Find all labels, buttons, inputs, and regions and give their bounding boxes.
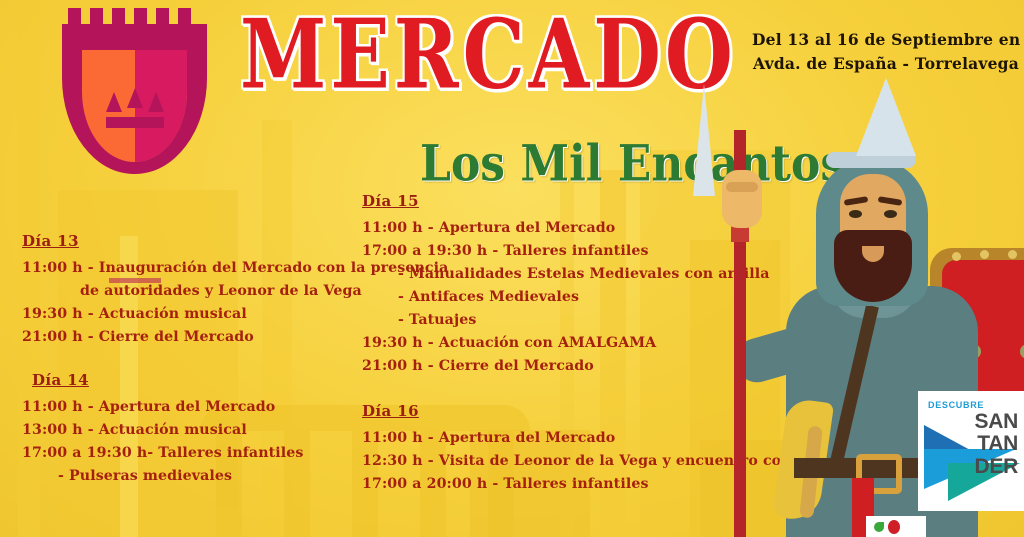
schedule-event: 11:00 h - Inauguración del Mercado con l… <box>22 257 362 280</box>
poster-title: MERCADO <box>240 8 710 103</box>
spear-blade-icon <box>693 84 715 196</box>
schedule-event: 11:00 h - Apertura del Mercado <box>22 396 362 419</box>
logo-line-san: SAN <box>975 411 1018 433</box>
day-block: Día 13 11:00 h - Inauguración del Mercad… <box>22 232 362 349</box>
day-heading: Día 13 <box>22 232 362 250</box>
schedule-event: - Antifaces Medievales <box>362 286 832 309</box>
logo-line-der: DER <box>975 456 1018 478</box>
schedule-event: 21:00 h - Cierre del Mercado <box>22 326 362 349</box>
schedule-event: 17:00 a 19:30 h- Talleres infantiles <box>22 442 362 465</box>
schedule-event: de autoridades y Leonor de la Vega <box>22 280 362 303</box>
schedule-event: 11:00 h - Apertura del Mercado <box>362 427 832 450</box>
knight-eye <box>884 210 897 218</box>
knight-fingers <box>726 182 758 192</box>
event-date-location: Del 13 al 16 de Septiembre en la Avda. d… <box>752 28 1020 76</box>
poster-canvas: MERCADO Los Mil Encantos Del 13 al 16 de… <box>0 0 1024 537</box>
knight-eye <box>849 210 862 218</box>
leaf-icon <box>874 522 884 532</box>
schedule-event: 13:00 h - Actuación musical <box>22 419 362 442</box>
schedule-event: - Pulseras medievales <box>22 465 362 488</box>
day-heading: Día 14 <box>32 371 362 389</box>
knight-helmet-icon <box>856 78 916 156</box>
schedule-event: - Manualidades Estelas Medievales con ar… <box>362 263 832 286</box>
secondary-logo[interactable] <box>866 516 926 537</box>
schedule-event: 17:00 a 19:30 h - Talleres infantiles <box>362 240 832 263</box>
schedule-column-left: Día 13 11:00 h - Inauguración del Mercad… <box>22 232 362 502</box>
coat-of-arms-shield <box>62 6 207 191</box>
schedule-event: 11:00 h - Apertura del Mercado <box>362 217 832 240</box>
day-block: Día 16 11:00 h - Apertura del Mercado 12… <box>362 402 832 496</box>
descubre-santander-logo[interactable]: DESCUBRE SAN TAN DER <box>918 391 1024 511</box>
logo-santander-text: SAN TAN DER <box>975 411 1018 478</box>
schedule-event: 17:00 a 20:00 h - Talleres infantiles <box>362 473 832 496</box>
schedule-event: 19:30 h - Actuación musical <box>22 303 362 326</box>
day-heading: Día 16 <box>362 402 832 420</box>
dot-icon <box>888 520 900 534</box>
schedule-event: - Tatuajes <box>362 309 832 332</box>
schedule-event: 12:30 h - Visita de Leonor de la Vega y … <box>362 450 832 473</box>
logo-descubre-text: DESCUBRE <box>928 400 984 410</box>
crown-icon <box>106 88 164 128</box>
logo-line-tan: TAN <box>975 433 1018 455</box>
event-date-line: Del 13 al 16 de Septiembre en la <box>752 28 1020 52</box>
knight-hand <box>722 170 762 228</box>
day-block: Día 14 11:00 h - Apertura del Mercado 13… <box>22 371 362 488</box>
